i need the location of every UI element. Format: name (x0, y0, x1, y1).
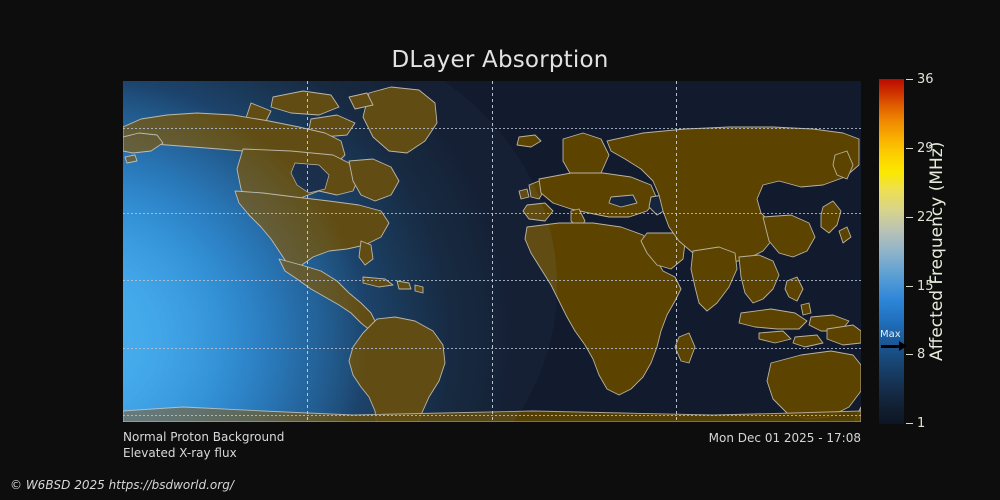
colorbar-tick-8 (906, 354, 913, 355)
copyright-notice: © W6BSD 2025 https://bsdworld.org/ (10, 478, 234, 492)
colorbar-gradient (879, 79, 904, 424)
colorbar-tick-15 (906, 286, 913, 287)
colorbar-tick-29 (906, 148, 913, 149)
colorbar-axis-title: Affected Frequency (MHz) (925, 78, 949, 424)
gridline-lon-0 (492, 81, 493, 422)
gridline-lon-90w (307, 81, 308, 422)
colorbar-tick-22 (906, 217, 913, 218)
status-block: Normal Proton Background Elevated X-ray … (123, 429, 284, 461)
world-map[interactable] (123, 81, 861, 422)
page-title: DLayer Absorption (0, 47, 1000, 73)
colorbar-tick-36 (906, 79, 913, 80)
status-proton-background: Normal Proton Background (123, 429, 284, 445)
app-root: DLayer Absorption (0, 0, 1000, 500)
timestamp: Mon Dec 01 2025 - 17:08 (709, 431, 861, 445)
gridline-lon-90e (676, 81, 677, 422)
colorbar-tick-1 (906, 423, 913, 424)
status-xray-flux: Elevated X-ray flux (123, 445, 284, 461)
